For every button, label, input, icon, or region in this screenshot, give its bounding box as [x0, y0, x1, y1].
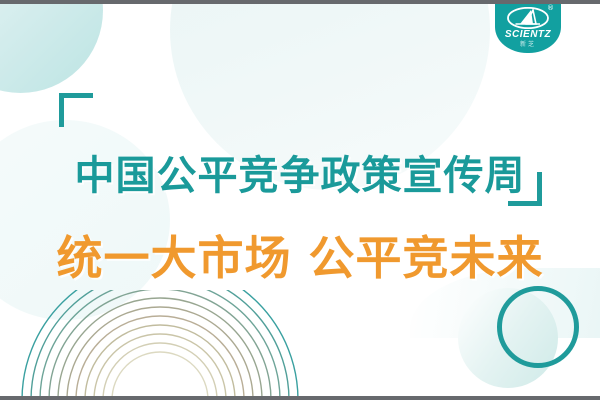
brand-sub-wordmark: 新芝	[495, 39, 561, 48]
registered-trademark-mark: ®	[547, 4, 554, 12]
top-left-circle	[0, 0, 103, 93]
bottom-edge-bar	[0, 396, 600, 400]
brand-logo-badge[interactable]: ® SCIENTZ 新芝	[495, 0, 561, 53]
headline-primary: 中国公平竞争政策宣传周	[0, 143, 600, 201]
bottom-right-outline-circle	[497, 286, 579, 368]
promo-poster: 中国公平竞争政策宣传周 统一大市场 公平竞未来 ® SCIENTZ 新芝	[0, 0, 600, 400]
headline-secondary: 统一大市场 公平竞未来	[0, 222, 600, 288]
scientz-sail-logo-icon	[506, 7, 550, 29]
corner-bracket-top-left-icon	[59, 93, 93, 127]
top-edge-bar	[0, 0, 600, 4]
concentric-arcs	[0, 290, 300, 400]
